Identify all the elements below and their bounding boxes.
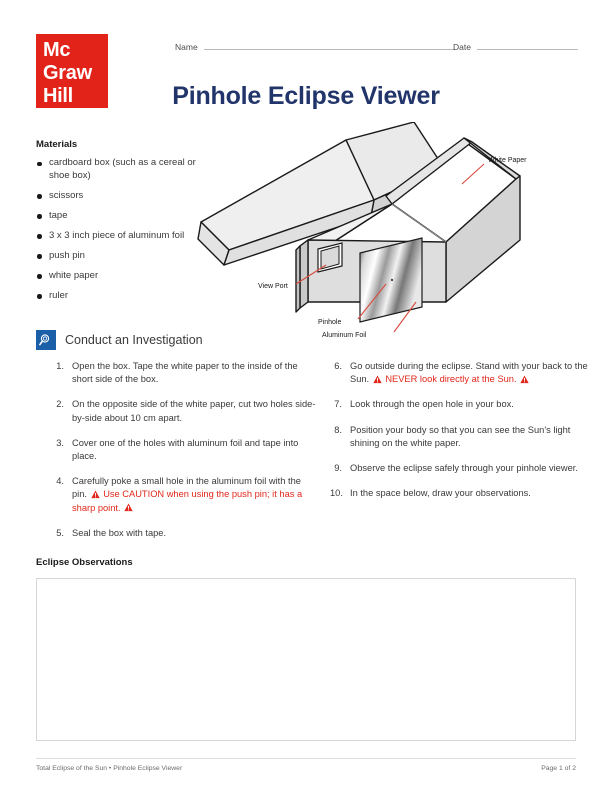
footer-page-number: Page 1 of 2 — [541, 765, 576, 772]
list-item: white paper — [36, 270, 196, 283]
caution-note: NEVER look directly at the Sun. — [369, 374, 530, 384]
list-item: cardboard box (such as a cereal or shoe … — [36, 157, 196, 182]
steps-column-left: 1. Open the box. Tape the white paper to… — [52, 360, 317, 552]
observations-drawing-area[interactable] — [36, 578, 576, 741]
caution-note: Use CAUTION when using the push pin; it … — [72, 489, 302, 512]
list-item: tape — [36, 210, 196, 223]
observations-heading: Eclipse Observations — [36, 557, 133, 568]
footer-divider — [36, 758, 576, 759]
materials-heading: Materials — [36, 139, 77, 150]
step-item: 5. Seal the box with tape. — [52, 527, 317, 540]
page-title: Pinhole Eclipse Viewer — [0, 82, 612, 111]
step-text: Open the box. Tape the white paper to th… — [72, 360, 317, 386]
footer-left-text: Total Eclipse of the Sun • Pinhole Eclip… — [36, 765, 182, 772]
step-text: On the opposite side of the white paper,… — [72, 398, 317, 424]
investigation-heading: Conduct an Investigation — [65, 333, 203, 347]
step-text: Seal the box with tape. — [72, 527, 166, 540]
step-text: Position your body so that you can see t… — [350, 424, 592, 450]
label-view-port: View Port — [258, 283, 288, 290]
label-aluminum-foil: Aluminum Foil — [322, 332, 367, 337]
name-field[interactable]: Name — [175, 41, 455, 52]
warning-triangle-icon — [520, 375, 529, 384]
step-number: 2. — [52, 398, 72, 424]
step-item: 6. Go outside during the eclipse. Stand … — [330, 360, 592, 386]
step-number: 7. — [330, 398, 350, 411]
step-item: 9. Observe the eclipse safely through yo… — [330, 462, 592, 475]
step-number: 5. — [52, 527, 72, 540]
list-item: scissors — [36, 190, 196, 203]
name-label: Name — [175, 42, 198, 52]
step-item: 1. Open the box. Tape the white paper to… — [52, 360, 317, 386]
step-item: 4. Carefully poke a small hole in the al… — [52, 475, 317, 515]
name-input-rule[interactable] — [204, 41, 455, 50]
materials-list: cardboard box (such as a cereal or shoe … — [36, 157, 196, 310]
label-white-paper: White Paper — [488, 157, 527, 164]
step-text-with-caution: Carefully poke a small hole in the alumi… — [72, 475, 317, 515]
pinhole-box-illustration: White Paper View Port Pinhole Aluminum F… — [196, 122, 596, 342]
step-number: 10. — [330, 487, 350, 500]
steps-column-right: 6. Go outside during the eclipse. Stand … — [330, 360, 592, 512]
warning-triangle-icon — [124, 503, 133, 512]
step-item: 7. Look through the open hole in your bo… — [330, 398, 592, 411]
step-number: 4. — [52, 475, 72, 515]
date-field[interactable]: Date — [453, 41, 578, 52]
step-number: 9. — [330, 462, 350, 475]
worksheet-page: Mc Graw Hill Name Date Pinhole Eclipse V… — [0, 0, 612, 792]
warning-triangle-icon — [373, 375, 382, 384]
step-item: 3. Cover one of the holes with aluminum … — [52, 437, 317, 463]
step-text-with-caution: Go outside during the eclipse. Stand wit… — [350, 360, 592, 386]
step-item: 2. On the opposite side of the white pap… — [52, 398, 317, 424]
step-item: 10. In the space below, draw your observ… — [330, 487, 592, 500]
caution-text: Use CAUTION when using the push pin; it … — [72, 489, 302, 512]
list-item: push pin — [36, 250, 196, 263]
magnifier-icon — [36, 330, 56, 350]
step-text: In the space below, draw your observatio… — [350, 487, 531, 500]
step-number: 8. — [330, 424, 350, 450]
caution-text: NEVER look directly at the Sun. — [385, 374, 516, 384]
step-text: Look through the open hole in your box. — [350, 398, 514, 411]
warning-triangle-icon — [91, 490, 100, 499]
date-label: Date — [453, 42, 471, 52]
conduct-investigation-header: Conduct an Investigation — [36, 330, 203, 350]
step-number: 6. — [330, 360, 350, 386]
step-number: 3. — [52, 437, 72, 463]
logo-line-1: Mc — [43, 39, 108, 62]
step-text: Observe the eclipse safely through your … — [350, 462, 578, 475]
step-number: 1. — [52, 360, 72, 386]
step-text: Cover one of the holes with aluminum foi… — [72, 437, 317, 463]
list-item: ruler — [36, 290, 196, 303]
label-pinhole: Pinhole — [318, 319, 341, 326]
step-item: 8. Position your body so that you can se… — [330, 424, 592, 450]
date-input-rule[interactable] — [477, 41, 578, 50]
list-item: 3 x 3 inch piece of aluminum foil — [36, 230, 196, 243]
